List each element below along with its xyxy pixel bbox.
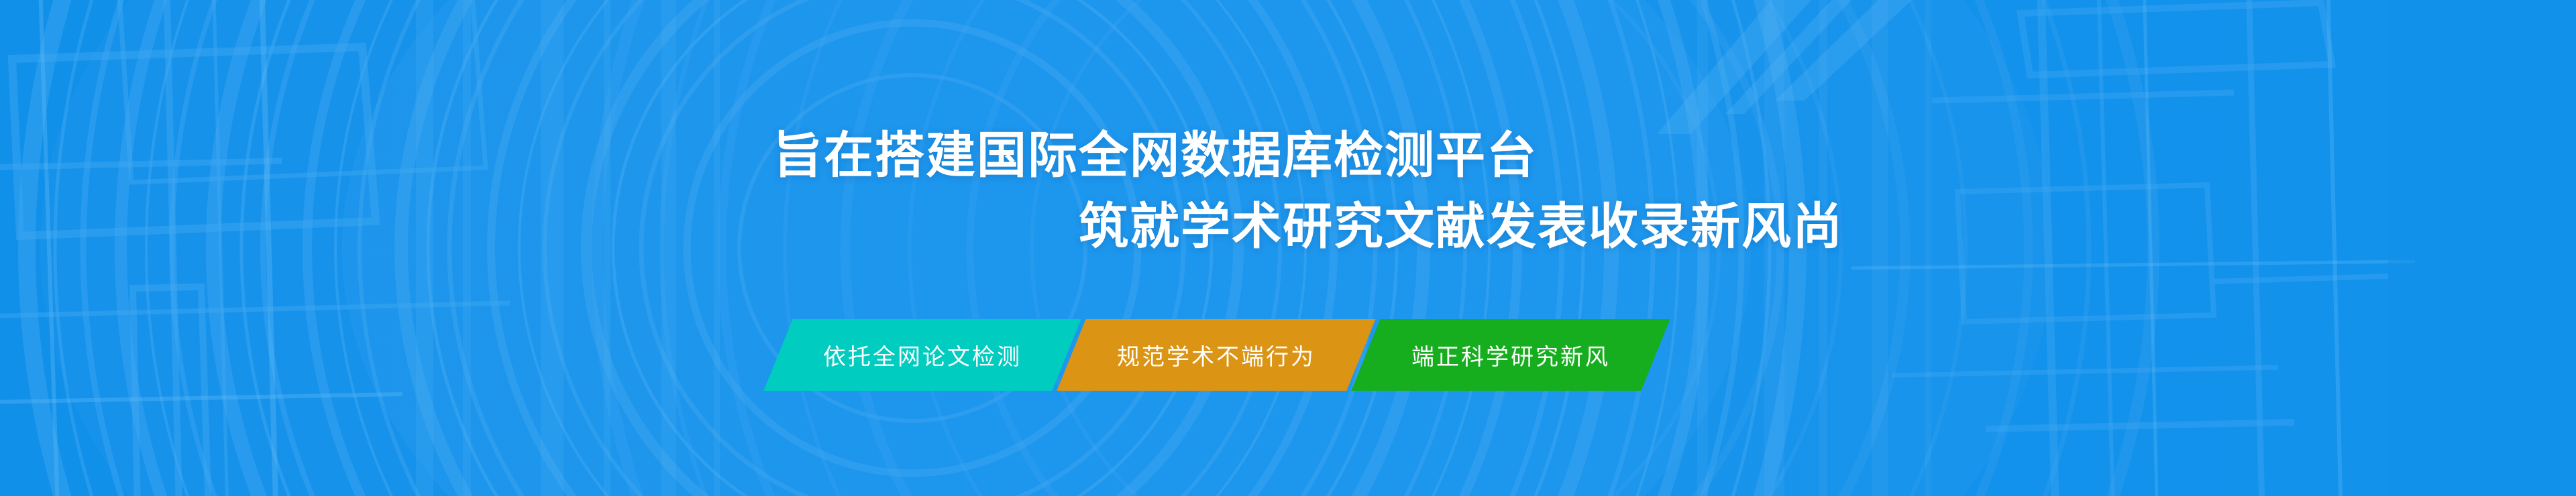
feature-tag-paper-detection[interactable]: 依托全网论文检测 [763,319,1081,391]
background-decoration [0,0,2576,496]
feature-tag-research-ethics[interactable]: 端正科学研究新风 [1351,319,1670,391]
promo-banner: 旨在搭建国际全网数据库检测平台 筑就学术研究文献发表收录新风尚 依托全网论文检测… [0,0,2576,496]
feature-tag-misconduct[interactable]: 规范学术不端行为 [1057,319,1375,391]
feature-tag-label: 规范学术不端行为 [1117,338,1316,371]
feature-tag-label: 依托全网论文检测 [823,338,1022,371]
feature-tag-label: 端正科学研究新风 [1411,338,1610,371]
feature-tag-band: 依托全网论文检测 规范学术不端行为 端正科学研究新风 [778,319,1656,391]
